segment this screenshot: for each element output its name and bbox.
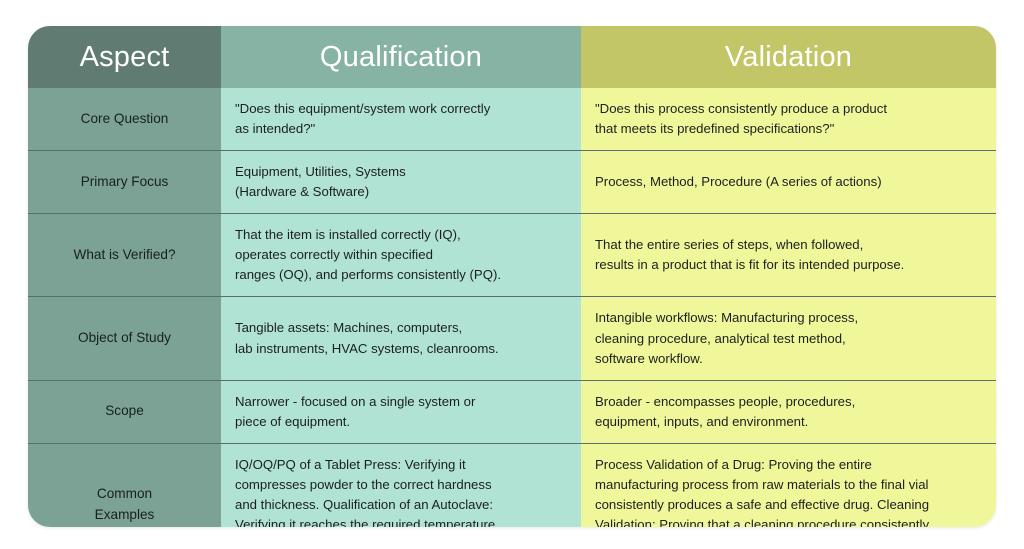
cell-qualification: "Does this equipment/system work correct… [221, 88, 581, 150]
cell-validation-text: Process, Method, Procedure (A series of … [595, 172, 982, 192]
cell-qualification-text: IQ/OQ/PQ of a Tablet Press: Verifying it… [235, 455, 567, 527]
table-row: What is Verified? That the item is insta… [28, 213, 996, 296]
table-row: Common Examples IQ/OQ/PQ of a Tablet Pre… [28, 443, 996, 527]
cell-qualification: Narrower - focused on a single system or… [221, 380, 581, 443]
table-row: Primary Focus Equipment, Utilities, Syst… [28, 150, 996, 213]
table-row: Core Question "Does this equipment/syste… [28, 88, 996, 150]
cell-aspect-text: What is Verified? [36, 245, 213, 266]
table-header-row: Aspect Qualification Validation [28, 26, 996, 88]
column-header-qualification: Qualification [221, 26, 581, 88]
cell-aspect-text: Core Question [36, 109, 213, 130]
cell-aspect: Scope [28, 380, 221, 443]
cell-qualification-text: Equipment, Utilities, Systems (Hardware … [235, 162, 567, 202]
cell-aspect-text: Primary Focus [36, 172, 213, 193]
cell-validation-text: "Does this process consistently produce … [595, 99, 982, 139]
cell-aspect-text: Scope [36, 401, 213, 422]
cell-aspect-text: Object of Study [36, 328, 213, 349]
table-row: Object of Study Tangible assets: Machine… [28, 296, 996, 379]
column-header-validation-label: Validation [725, 43, 852, 72]
cell-validation-text: Process Validation of a Drug: Proving th… [595, 455, 982, 527]
cell-validation-text: Intangible workflows: Manufacturing proc… [595, 308, 982, 368]
cell-aspect: Common Examples [28, 443, 221, 527]
cell-qualification: That the item is installed correctly (IQ… [221, 213, 581, 296]
cell-validation: That the entire series of steps, when fo… [581, 213, 996, 296]
cell-qualification: Tangible assets: Machines, computers, la… [221, 296, 581, 379]
cell-validation: Broader - encompasses people, procedures… [581, 380, 996, 443]
cell-aspect: What is Verified? [28, 213, 221, 296]
cell-validation: Intangible workflows: Manufacturing proc… [581, 296, 996, 379]
cell-qualification: IQ/OQ/PQ of a Tablet Press: Verifying it… [221, 443, 581, 527]
cell-qualification-text: Tangible assets: Machines, computers, la… [235, 318, 567, 358]
cell-validation-text: Broader - encompasses people, procedures… [595, 392, 982, 432]
cell-qualification: Equipment, Utilities, Systems (Hardware … [221, 150, 581, 213]
column-header-aspect-label: Aspect [80, 43, 170, 72]
cell-qualification-text: Narrower - focused on a single system or… [235, 392, 567, 432]
cell-validation: Process Validation of a Drug: Proving th… [581, 443, 996, 527]
table-body: Core Question "Does this equipment/syste… [28, 88, 996, 527]
table-row: Scope Narrower - focused on a single sys… [28, 380, 996, 443]
cell-aspect: Object of Study [28, 296, 221, 379]
column-header-aspect: Aspect [28, 26, 221, 88]
comparison-table: Aspect Qualification Validation Core Que… [28, 26, 996, 527]
cell-validation: Process, Method, Procedure (A series of … [581, 150, 996, 213]
cell-qualification-text: That the item is installed correctly (IQ… [235, 225, 567, 285]
cell-aspect-text: Common Examples [36, 484, 213, 525]
cell-validation: "Does this process consistently produce … [581, 88, 996, 150]
cell-aspect: Primary Focus [28, 150, 221, 213]
cell-qualification-text: "Does this equipment/system work correct… [235, 99, 567, 139]
column-header-qualification-label: Qualification [320, 43, 482, 72]
column-header-validation: Validation [581, 26, 996, 88]
cell-aspect: Core Question [28, 88, 221, 150]
cell-validation-text: That the entire series of steps, when fo… [595, 235, 982, 275]
